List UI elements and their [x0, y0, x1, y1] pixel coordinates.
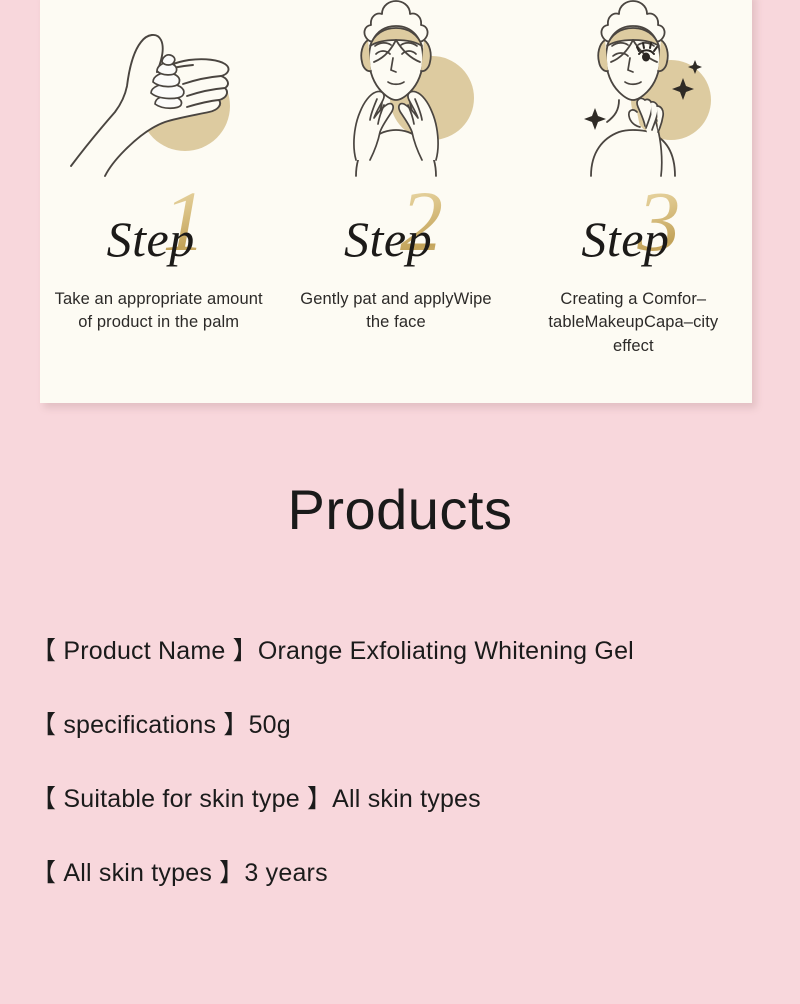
- spec-row-shelf-life: 【 All skin types 】3 years: [31, 853, 771, 927]
- spec-label-shelf-life: 【 All skin types 】: [31, 859, 244, 887]
- step-column-3: 3 Step Creating a Comfor–tableMakeupCapa…: [515, 0, 752, 370]
- step-caption-1: Take an appropriate amount of product in…: [54, 288, 264, 335]
- spec-label-product-name: 【 Product Name 】: [31, 637, 258, 665]
- spec-row-product-name: 【 Product Name 】Orange Exfoliating White…: [31, 631, 771, 705]
- spec-label-skin-type: 【 Suitable for skin type 】: [31, 785, 332, 813]
- step-caption-3: Creating a Comfor–tableMakeupCapa–city e…: [528, 288, 738, 358]
- spec-value-shelf-life: 3 years: [244, 859, 327, 887]
- spec-value-specifications: 50g: [249, 711, 291, 739]
- spec-label-specifications: 【 specifications 】: [31, 711, 249, 739]
- step-word-1: Step: [107, 214, 195, 264]
- woman-winking-sparkles-icon: [533, 0, 733, 180]
- step-caption-2: Gently pat and applyWipe the face: [291, 288, 501, 335]
- step-column-2: 2 Step Gently pat and applyWipe the face: [277, 0, 514, 370]
- step-wordmark-3: 3 Step: [533, 182, 733, 282]
- step-wordmark-1: 1 Step: [59, 182, 259, 282]
- steps-row: 1 Step Take an appropriate amount of pro…: [40, 0, 752, 370]
- instruction-steps-card: 1 Step Take an appropriate amount of pro…: [40, 0, 752, 403]
- spec-value-product-name: Orange Exfoliating Whitening Gel: [258, 637, 634, 665]
- step-word-3: Step: [581, 214, 669, 264]
- spec-row-skin-type: 【 Suitable for skin type 】All skin types: [31, 779, 771, 853]
- step-word-2: Step: [344, 214, 432, 264]
- woman-patting-face-icon: [296, 0, 496, 180]
- spec-value-skin-type: All skin types: [332, 785, 481, 813]
- products-heading: Products: [0, 477, 800, 542]
- step-column-1: 1 Step Take an appropriate amount of pro…: [40, 0, 277, 370]
- product-spec-list: 【 Product Name 】Orange Exfoliating White…: [31, 631, 771, 927]
- hand-with-cream-dollop-icon: [59, 0, 259, 180]
- spec-row-specifications: 【 specifications 】50g: [31, 705, 771, 779]
- step-wordmark-2: 2 Step: [296, 182, 496, 282]
